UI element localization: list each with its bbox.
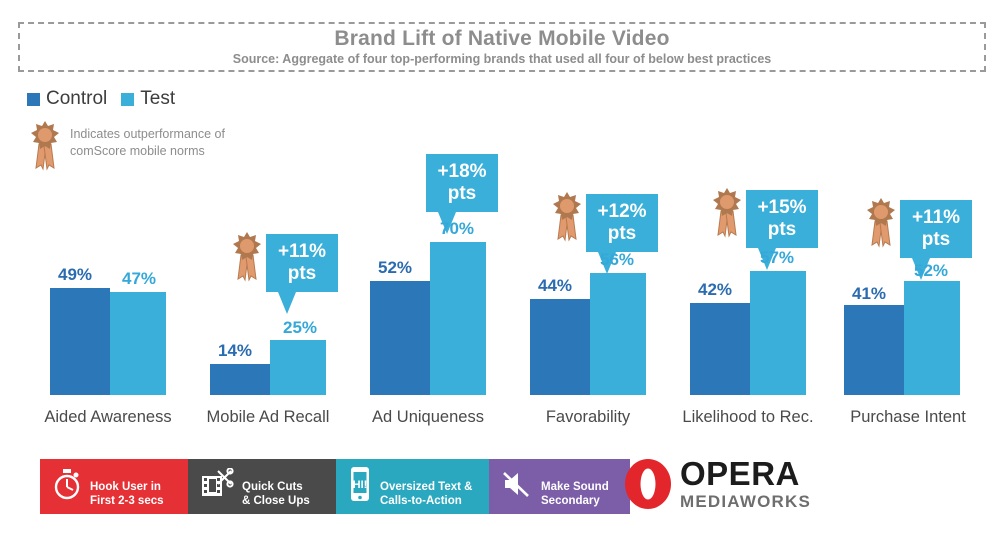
phone-hi-icon: HI! bbox=[348, 466, 372, 507]
value-label-test: 25% bbox=[283, 318, 317, 338]
lift-value-line2: pts bbox=[275, 263, 329, 285]
category-label: Ad Uniqueness bbox=[348, 408, 508, 427]
practice-label: Hook User inFirst 2-3 secs bbox=[90, 466, 164, 508]
lift-value-line2: pts bbox=[595, 223, 649, 245]
outperformance-badge bbox=[866, 197, 896, 254]
lift-callout-box: +18% pts bbox=[426, 154, 498, 212]
opera-mediaworks-logo: OPERA MEDIAWORKS bbox=[625, 457, 811, 510]
muted-speaker-icon bbox=[501, 469, 533, 504]
bar-group-mobile-ad-recall: +11% pts 14% 25% Mobile Ad Recall bbox=[188, 0, 348, 440]
bar-test bbox=[590, 273, 646, 395]
value-label-test: 56% bbox=[600, 250, 634, 270]
category-label: Mobile Ad Recall bbox=[188, 408, 348, 427]
value-label-test: 57% bbox=[760, 248, 794, 268]
bar-test bbox=[430, 242, 486, 395]
practice-label: Quick Cuts& Close Ups bbox=[242, 466, 310, 508]
lift-value-line1: +18% bbox=[435, 161, 489, 183]
value-label-control: 49% bbox=[58, 265, 92, 285]
bar-test bbox=[750, 271, 806, 395]
stopwatch-icon bbox=[52, 468, 82, 505]
opera-o-icon bbox=[625, 459, 671, 509]
lift-value-line2: pts bbox=[909, 229, 963, 251]
bar-control bbox=[210, 364, 270, 395]
bar-test bbox=[270, 340, 326, 395]
best-practices-bar: Hook User inFirst 2-3 secs Quick Cuts& C… bbox=[40, 459, 630, 514]
practice-label: Oversized Text &Calls-to-Action bbox=[380, 466, 472, 508]
lift-callout-box: +11% pts bbox=[266, 234, 338, 292]
lift-value-line1: +11% bbox=[275, 241, 329, 263]
bar-chart: 49% 47% Aided Awareness +11% pts 14% 25% bbox=[0, 0, 1004, 440]
value-label-test: 52% bbox=[914, 261, 948, 281]
lift-callout: +15% pts bbox=[746, 190, 818, 248]
bar-control bbox=[844, 305, 904, 395]
film-scissors-icon bbox=[200, 468, 234, 505]
practice-tile-hook-user: Hook User inFirst 2-3 secs bbox=[40, 459, 188, 514]
lift-callout-box: +11% pts bbox=[900, 200, 972, 258]
bar-group-likelihood-to-rec: +15% pts 42% 57% Likelihood to Rec. bbox=[668, 0, 828, 440]
outperformance-badge bbox=[232, 231, 262, 288]
lift-value-line2: pts bbox=[755, 219, 809, 241]
category-label: Favorability bbox=[508, 408, 668, 427]
bar-test bbox=[110, 292, 166, 395]
practice-label: Make SoundSecondary bbox=[541, 466, 609, 508]
lift-callout-box: +12% pts bbox=[586, 194, 658, 252]
bar-group-favorability: +12% pts 44% 56% Favorability bbox=[508, 0, 668, 440]
lift-callout: +11% pts bbox=[266, 234, 338, 292]
outperformance-badge bbox=[552, 191, 582, 248]
category-label: Aided Awareness bbox=[28, 408, 188, 427]
bar-group-ad-uniqueness: +18% pts 52% 70% Ad Uniqueness bbox=[348, 0, 508, 440]
lift-value-line1: +11% bbox=[909, 207, 963, 229]
practice-tile-oversized-text: HI! Oversized Text &Calls-to-Action bbox=[336, 459, 489, 514]
bar-group-aided-awareness: 49% 47% Aided Awareness bbox=[28, 0, 188, 440]
lift-callout: +12% pts bbox=[586, 194, 658, 252]
lift-callout: +11% pts bbox=[900, 200, 972, 258]
practice-tile-quick-cuts: Quick Cuts& Close Ups bbox=[188, 459, 336, 514]
bar-test bbox=[904, 281, 960, 395]
value-label-test: 47% bbox=[122, 269, 156, 289]
category-label: Purchase Intent bbox=[828, 408, 988, 427]
lift-value-line1: +12% bbox=[595, 201, 649, 223]
outperformance-badge bbox=[712, 187, 742, 244]
brand-name: OPERA bbox=[680, 457, 811, 490]
bar-control bbox=[690, 303, 750, 395]
category-label: Likelihood to Rec. bbox=[668, 408, 828, 427]
callout-tail bbox=[278, 292, 296, 314]
brand-sub: MEDIAWORKS bbox=[680, 493, 811, 510]
bar-control bbox=[530, 299, 590, 395]
bar-control bbox=[370, 281, 430, 395]
lift-value-line1: +15% bbox=[755, 197, 809, 219]
lift-callout: +18% pts bbox=[426, 154, 498, 212]
value-label-test: 70% bbox=[440, 219, 474, 239]
lift-value-line2: pts bbox=[435, 183, 489, 205]
svg-text:HI!: HI! bbox=[353, 479, 368, 491]
bar-control bbox=[50, 288, 110, 395]
lift-callout-box: +15% pts bbox=[746, 190, 818, 248]
bar-group-purchase-intent: +11% pts 41% 52% Purchase Intent bbox=[828, 0, 988, 440]
practice-tile-make-sound-secondary: Make SoundSecondary bbox=[489, 459, 630, 514]
